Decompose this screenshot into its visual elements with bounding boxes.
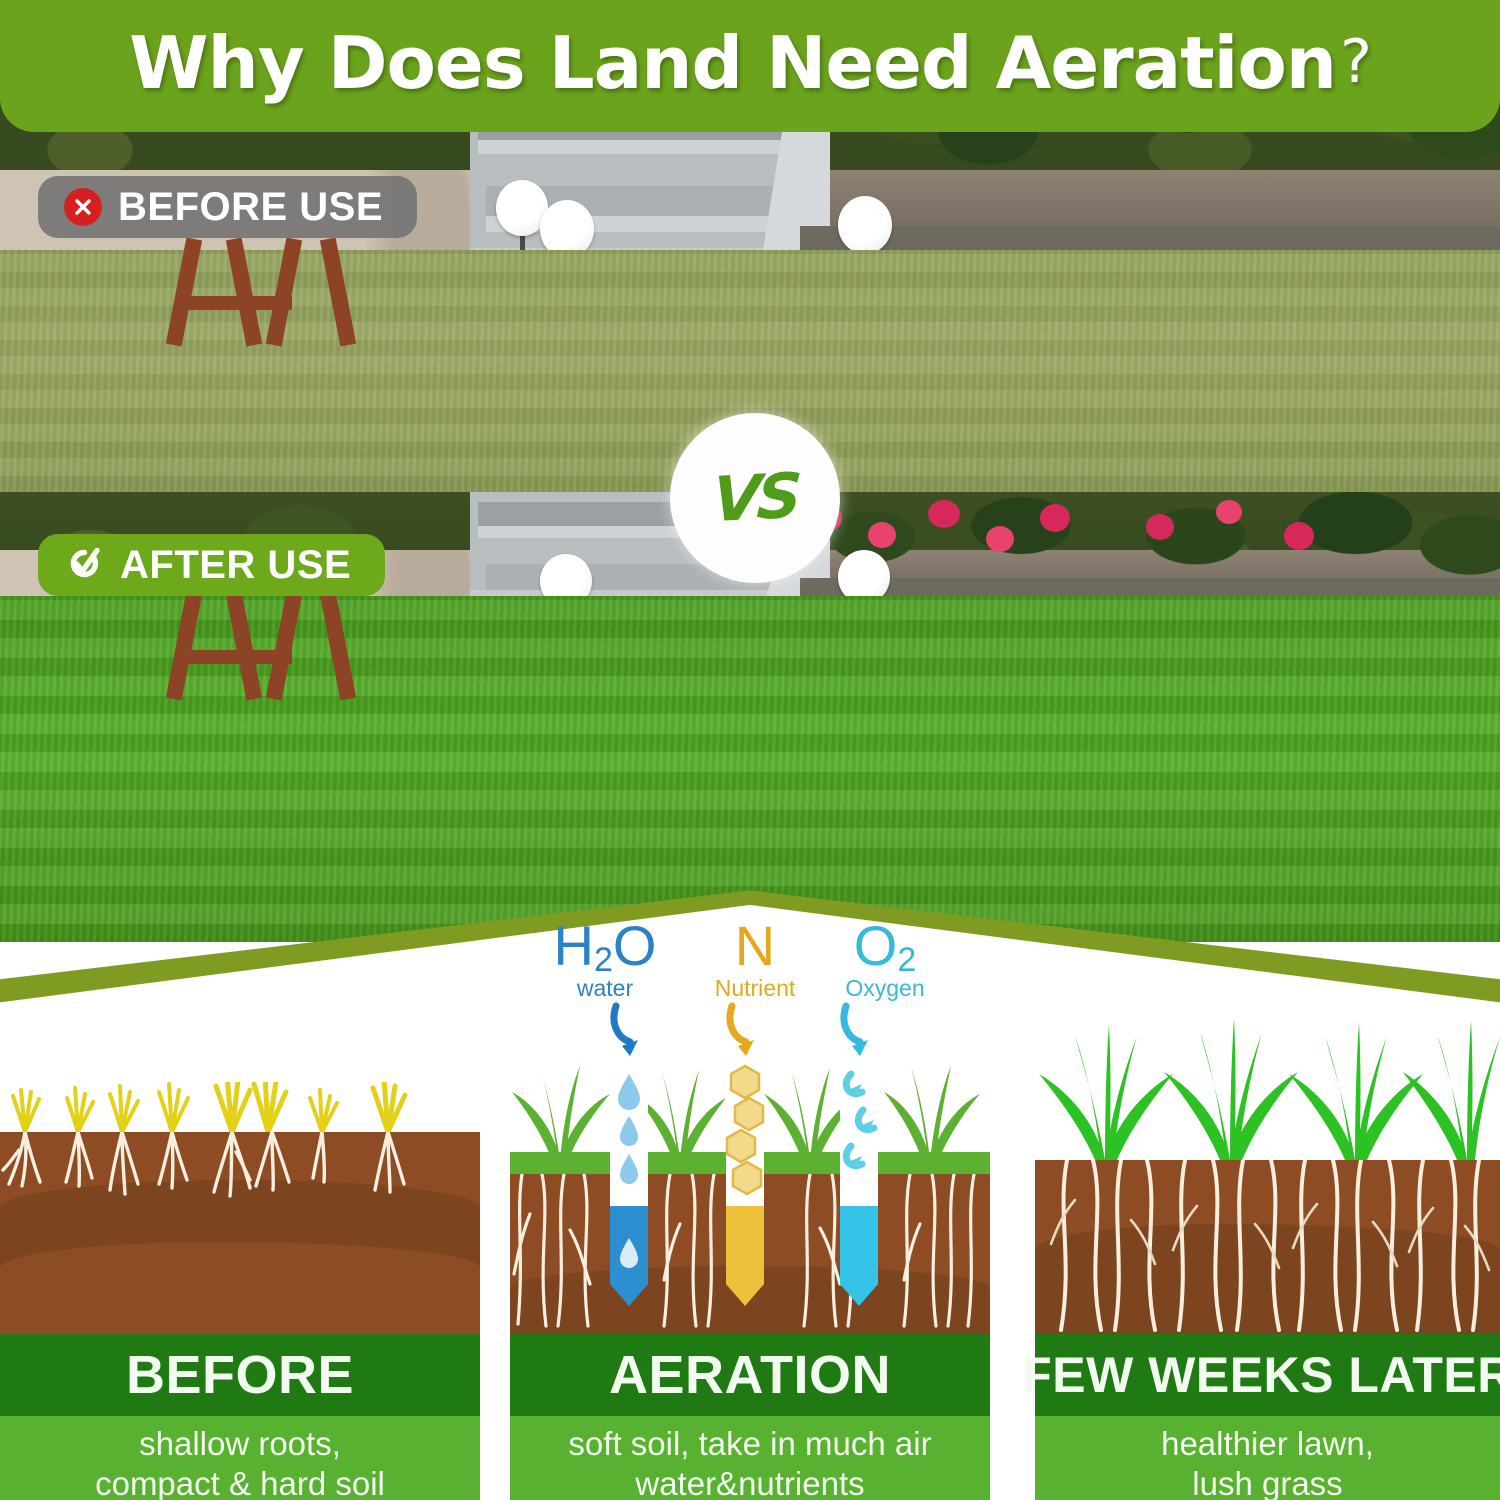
after-use-label: AFTER USE [120,545,351,585]
panel-lush-title-bar: FEW WEEKS LATER [1035,1334,1500,1416]
aeration-holes-graphic [510,994,990,1334]
page-title: Why Does Land Need Aeration? [129,27,1371,105]
before-use-label: BEFORE USE [118,187,383,227]
panel-before-title-bar: BEFORE [0,1334,480,1416]
panel-aeration-caption-line1: soft soil, take in much air [568,1425,931,1462]
vs-label: VS [711,465,799,531]
chem-name-oxygen: Oxygen [820,975,950,1002]
chem-label-oxygen: O2 Oxygen [820,918,950,1002]
panel-lush-caption-line1: healthier lawn, [1161,1425,1374,1462]
lush-soil [1035,1160,1500,1334]
garden-lamp [838,196,892,254]
x-circle-icon [64,188,102,226]
panel-aeration-caption-line2: water&nutrients [635,1465,864,1500]
lush-roots-graphic [1035,1160,1500,1334]
chem-label-water: H2O water [540,918,670,1002]
chem-name-water: water [540,975,670,1002]
chem-symbol-nutrient: N [690,918,820,977]
chem-symbol-oxygen: O2 [820,918,950,977]
header-banner: Why Does Land Need Aeration? [0,0,1500,132]
before-soil [0,1132,480,1334]
check-circle-icon [64,545,104,585]
panel-before-caption-line2: compact & hard soil [95,1465,385,1500]
panel-aeration-title: AERATION [609,1344,891,1406]
panel-aeration-caption: soft soil, take in much airwater&nutrien… [510,1416,990,1500]
panel-before-caption: shallow roots,compact & hard soil [0,1416,480,1500]
panel-lush-title: FEW WEEKS LATER [1021,1346,1500,1404]
infographic-root: Why Does Land Need Aeration? BEFORE USE … [0,0,1500,1500]
before-use-badge: BEFORE USE [38,176,417,238]
page-title-text: Why Does Land Need Aeration [129,21,1336,105]
chem-name-nutrient: Nutrient [690,975,820,1002]
after-use-badge: AFTER USE [38,534,385,596]
panel-before: BEFORE shallow roots,compact & hard soil [0,900,480,1500]
panel-few-weeks-later: FEW WEEKS LATER healthier lawn,lush gras… [1035,900,1500,1500]
chem-label-nutrient: N Nutrient [690,918,820,1002]
before-roots-graphic [0,1132,480,1334]
chem-symbol-water: H2O [540,918,670,977]
panel-before-caption-line1: shallow roots, [139,1425,341,1462]
panel-aeration-title-bar: AERATION [510,1334,990,1416]
panel-lush-caption-line2: lush grass [1192,1465,1342,1500]
panel-before-title: BEFORE [126,1344,354,1406]
panel-lush-caption: healthier lawn,lush grass [1035,1416,1500,1500]
page-title-question-mark: ? [1340,27,1371,97]
vs-divider: VS [670,413,840,583]
